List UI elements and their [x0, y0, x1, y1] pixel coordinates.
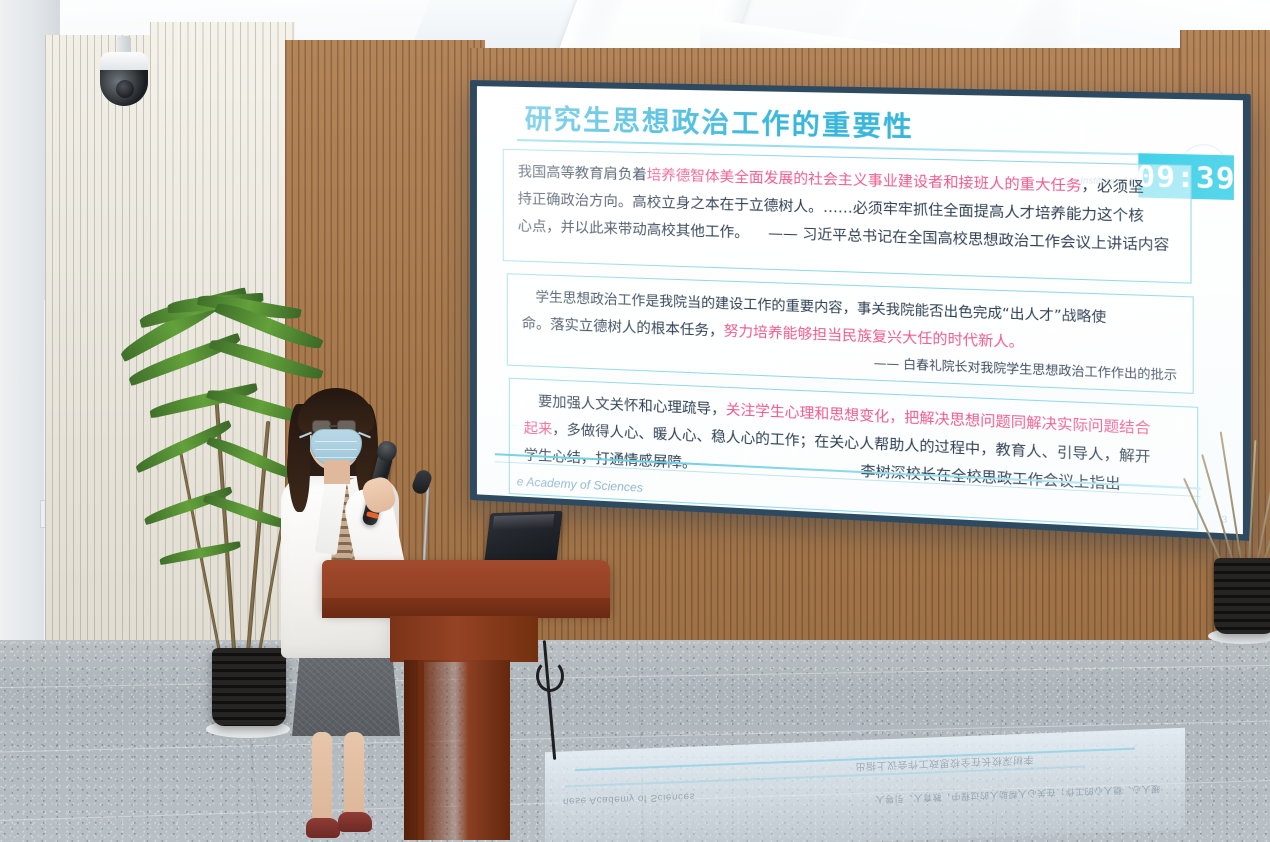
quote-attribution: —— 习近平总书记在全国高校思想政治工作会议上讲话内容 [768, 226, 1169, 255]
slide-title: 研究生思想政治工作的重要性 [525, 97, 914, 145]
presenter-shoe [338, 812, 372, 832]
beige-slat-wall-panel [150, 22, 295, 722]
podium-midsection [390, 616, 538, 662]
presenter-neck [324, 460, 350, 484]
projection-screen: 研究生思想政治工作的重要性 Institute of Mechanics 09:… [470, 80, 1251, 541]
quote-segment: 要加强人文关怀和心理疏导， [524, 393, 726, 418]
presenter-leg [312, 732, 332, 824]
beige-slat-wall-panel [45, 35, 165, 735]
quote-segment-highlight: 起来 [524, 420, 552, 437]
presenter-shoe [306, 818, 340, 838]
reflection-text-right-2: 暖人心、稳人心的工作；在关心人帮助人的过程中，教育人、引导人 [875, 783, 1160, 807]
podium-lip [322, 598, 610, 618]
quote-segment: 心点，并以此来带动高校其他工作。 [518, 218, 749, 241]
plant-pot [212, 648, 286, 726]
quote-segment-highlight: 努力培养能够担当民族复兴大任的时代新人。 [724, 323, 1024, 351]
camera-lens-icon [116, 80, 134, 98]
plant-pot [1214, 558, 1270, 634]
presenter-leg [344, 732, 364, 820]
quote-segment: ，必须坚 [1081, 178, 1143, 196]
lecture-hall-scene: nese Academy of Sciences 李树深校长在全校思政工作会议上… [0, 0, 1270, 842]
slide-surface: 研究生思想政治工作的重要性 Institute of Mechanics 09:… [477, 86, 1243, 534]
quote-segment: 我国高等教育肩负着 [518, 164, 647, 183]
reflection-text-left: nese Academy of Sciences [563, 791, 695, 807]
glasses-bridge [329, 425, 337, 427]
quote-box-1: 我国高等教育肩负着培养德智体美全面发展的社会主义事业建设者和接班人的重大任务，必… [503, 149, 1192, 284]
quote-box-2: 学生思想政治工作是我院当的建设工作的重要内容，事关我院能否出色完成“出人才”战略… [507, 273, 1194, 394]
podium-column [418, 660, 510, 840]
quote-segment: 命。落实立德树人的根本任务， [522, 316, 724, 340]
power-cable-loop [536, 660, 564, 692]
